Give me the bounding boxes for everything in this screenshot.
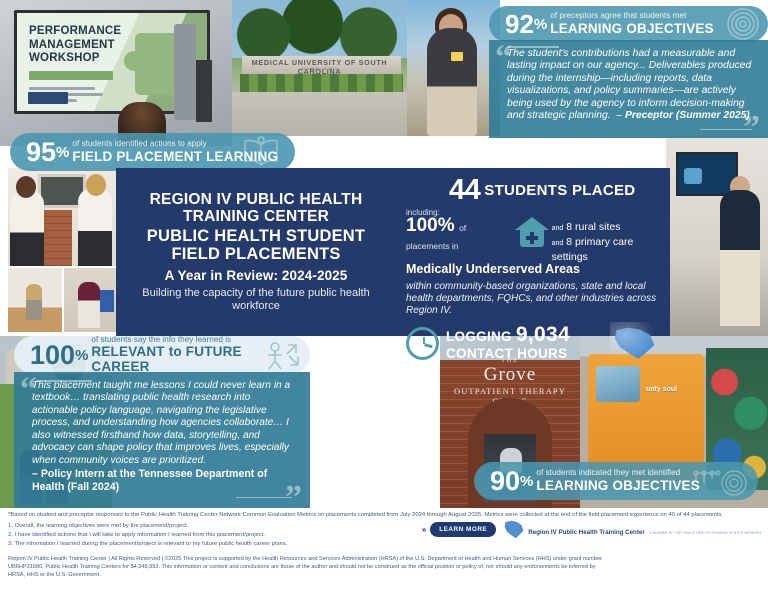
photo-poster-session bbox=[64, 268, 116, 332]
target-circuit-icon bbox=[690, 465, 750, 497]
students-placed-label: STUDENTS PLACED bbox=[484, 182, 635, 199]
region-iv-map-mark-icon bbox=[504, 520, 524, 539]
rural-and: and bbox=[552, 225, 564, 232]
hours-number: 9,034 bbox=[516, 323, 570, 346]
quote-rule-top bbox=[507, 46, 559, 48]
stat-95-number: 95 bbox=[26, 139, 56, 166]
stat-92-percent: % bbox=[534, 16, 547, 33]
brick-column bbox=[42, 210, 72, 266]
stat-pill-90: 90 % of students indicated they met iden… bbox=[474, 462, 758, 500]
stat-90-big-label: LEARNING OBJECTIVES bbox=[536, 478, 700, 493]
org-title: REGION IV PUBLIC HEALTH TRAINING CENTER bbox=[128, 191, 384, 226]
quote-close-mark-2: ” bbox=[285, 486, 302, 510]
footnote-3: 3. The information I learned during the … bbox=[8, 540, 760, 549]
quote-rule-bottom-2 bbox=[236, 497, 292, 499]
primary-care-settings: 8 primary care settings bbox=[552, 236, 634, 263]
student-two-head bbox=[86, 174, 106, 196]
quote-open-mark-2: “ bbox=[20, 378, 37, 402]
legal-disclaimer: Region IV Public Health Training Center … bbox=[8, 555, 608, 580]
title-block: REGION IV PUBLIC HEALTH TRAINING CENTER … bbox=[116, 168, 396, 336]
photo-student-presentation bbox=[666, 136, 768, 336]
program-title: PUBLIC HEALTH STUDENT FIELD PLACEMENTS bbox=[128, 227, 384, 264]
footnote-star: *Based on student and preceptor response… bbox=[8, 511, 760, 520]
grove-name: Grove bbox=[440, 364, 580, 386]
student-one-head bbox=[16, 176, 36, 198]
clock-icon bbox=[406, 327, 439, 360]
year-in-review: A Year in Review: 2024-2025 bbox=[165, 268, 348, 283]
photo-musc-sign: MEDICAL UNIVERSITY OF SOUTH CAROLINA FOU… bbox=[232, 0, 407, 136]
students-placed-row: 44 STUDENTS PLACED bbox=[406, 176, 660, 205]
stat-100-percent: % bbox=[75, 347, 88, 364]
stat-90-number: 90 bbox=[490, 468, 520, 495]
stat-90-percent: % bbox=[520, 473, 533, 490]
stat-92-small-label: of preceptors agree that students met bbox=[550, 12, 714, 21]
stat-90-small-label: of students indicated they met identifie… bbox=[536, 469, 700, 478]
mua-percent: 100% bbox=[406, 215, 455, 236]
placements-stats-block: 44 STUDENTS PLACED including: 100% of pl… bbox=[398, 168, 670, 336]
quote-rule-bottom bbox=[700, 129, 752, 131]
rural-sites: 8 rural sites bbox=[566, 221, 620, 233]
learn-more-label[interactable]: LEARN MORE bbox=[430, 522, 496, 537]
quote-preceptor-text: The student's contributions had a measur… bbox=[507, 48, 752, 123]
mchd-logo bbox=[28, 92, 68, 104]
musc-trees bbox=[232, 0, 407, 58]
tagline: Building the capacity of the future publ… bbox=[128, 287, 384, 313]
student-body bbox=[427, 28, 477, 136]
region-iv-logo-title: Region IV Public Health Training Center bbox=[528, 529, 645, 536]
workshop-slide-title: PERFORMANCE MANAGEMENT WORKSHOP bbox=[29, 25, 139, 66]
student-one-body bbox=[10, 190, 44, 266]
speaker-left bbox=[174, 24, 196, 120]
footer-logos: » LEARN MORE Region IV Public Health Tra… bbox=[422, 520, 762, 539]
musc-shrubs bbox=[240, 74, 403, 92]
musc-walkway bbox=[232, 92, 407, 136]
student-two-body bbox=[78, 188, 112, 266]
trainer-figure bbox=[26, 284, 42, 320]
contact-hours-row: LOGGING 9,034 CONTACT HOURS bbox=[406, 322, 660, 364]
quote-open-mark: “ bbox=[495, 46, 512, 70]
quote-intern-attribution: – Policy Intern at the Tennessee Departm… bbox=[32, 468, 294, 494]
stat-92-big-label: LEARNING OBJECTIVES bbox=[550, 21, 714, 36]
presenter-body bbox=[720, 190, 760, 326]
photo-training-room bbox=[8, 268, 62, 332]
quote-intern-body: This placement taught me lessons I could… bbox=[32, 380, 290, 466]
quote-preceptor-attribution: Preceptor (Summer 2025) bbox=[625, 110, 750, 121]
contact-hours-label: CONTACT HOURS bbox=[446, 346, 567, 361]
stat-pill-100: 100 % of students say the info they lear… bbox=[14, 336, 310, 374]
center-title-card: REGION IV PUBLIC HEALTH TRAINING CENTER … bbox=[116, 168, 670, 336]
quote-rule-top-2 bbox=[36, 380, 92, 382]
open-book-icon bbox=[241, 136, 281, 168]
settings-description: within community-based organizations, st… bbox=[406, 281, 660, 318]
stat-92-number: 92 bbox=[505, 11, 534, 37]
photo-student-outdoors bbox=[407, 0, 500, 136]
quote-preceptor: “ ” The student's contributions had a me… bbox=[489, 40, 768, 138]
primary-and: and bbox=[552, 240, 564, 247]
mua-row: 100% of placements in and 8 rural sites … bbox=[406, 216, 660, 266]
workshop-slide-pill bbox=[29, 71, 113, 80]
photo-performance-workshop: PERFORMANCE MANAGEMENT WORKSHOP bbox=[0, 0, 232, 146]
sites-list: and 8 rural sites and 8 primary care set… bbox=[552, 220, 660, 266]
career-path-icon bbox=[260, 339, 300, 371]
logging-label: LOGGING bbox=[446, 329, 512, 344]
photo-two-students bbox=[8, 168, 116, 266]
house-health-icon bbox=[515, 217, 546, 247]
presenter-figure bbox=[78, 282, 100, 328]
learn-more-button[interactable]: » LEARN MORE bbox=[422, 522, 496, 537]
quote-intern: “ ” This placement taught me lessons I c… bbox=[14, 372, 310, 508]
students-placed-number: 44 bbox=[449, 176, 480, 205]
infographic-poster: PERFORMANCE MANAGEMENT WORKSHOP MEDICAL … bbox=[0, 0, 768, 593]
speaker-right bbox=[196, 60, 212, 122]
footer: *Based on student and preceptor response… bbox=[0, 508, 768, 593]
target-icon bbox=[726, 7, 760, 41]
stat-100-number: 100 bbox=[30, 342, 75, 369]
stat-pill-92: 92 % of preceptors agree that students m… bbox=[489, 6, 768, 42]
region-iv-logo: Region IV Public Health Training Center … bbox=[504, 520, 762, 539]
stat-pill-95: 95 % of students identified actions to a… bbox=[10, 133, 295, 171]
poster-board bbox=[100, 290, 114, 312]
van-window bbox=[596, 366, 640, 402]
quote-intern-text: This placement taught me lessons I could… bbox=[32, 380, 294, 494]
region-iv-logo-subtitle: A MEMBER OF THE PUBLIC HEALTH TRAINING C… bbox=[649, 531, 762, 535]
stat-95-percent: % bbox=[56, 144, 69, 161]
region-iv-map-icon bbox=[610, 322, 660, 364]
musc-sign-subtext: FOUNDED IN 1824 bbox=[232, 67, 407, 71]
presentation-screen bbox=[676, 152, 738, 196]
student-badge bbox=[451, 52, 463, 61]
van-text: unty soul bbox=[646, 386, 677, 395]
quote-preceptor-dash: – bbox=[616, 110, 622, 121]
chevrons-icon: » bbox=[422, 525, 426, 534]
contact-hours-text: LOGGING 9,034 CONTACT HOURS bbox=[446, 324, 601, 362]
workshop-slide-line-1 bbox=[29, 87, 95, 90]
